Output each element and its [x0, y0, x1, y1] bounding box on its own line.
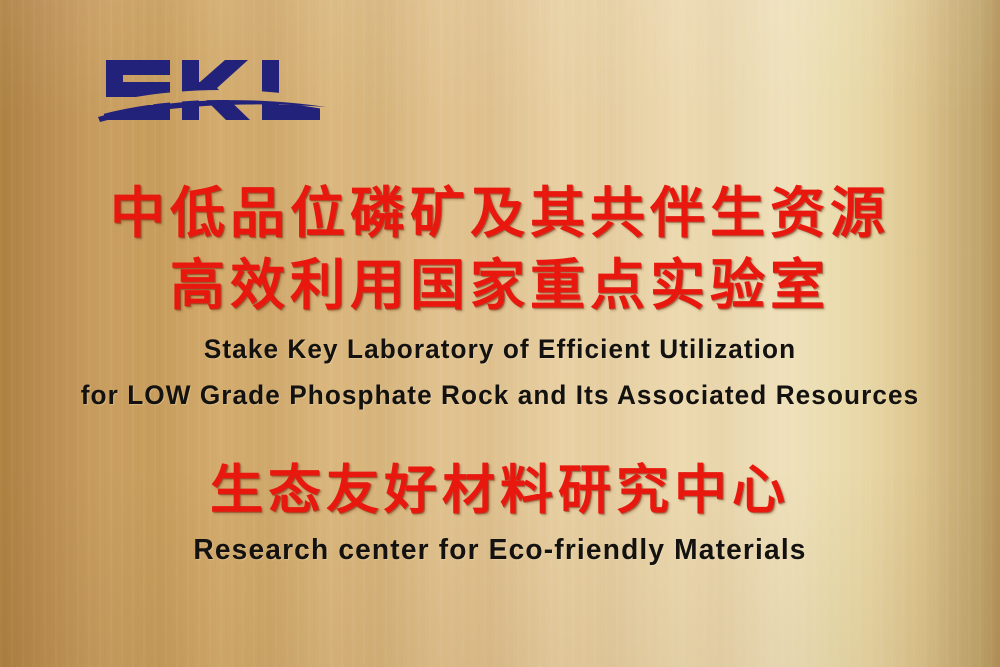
laboratory-name-en-line1: Stake Key Laboratory of Efficient Utiliz…	[15, 334, 985, 365]
research-center-name-cn: 生态友好材料研究中心	[0, 461, 1000, 521]
skl-logo	[96, 44, 328, 132]
skl-logo-icon	[96, 44, 328, 132]
laboratory-plaque: 中低品位磷矿及其共伴生资源 高效利用国家重点实验室 Stake Key Labo…	[0, 0, 1000, 667]
research-center-name-en: Research center for Eco-friendly Materia…	[15, 534, 985, 567]
laboratory-name-cn-line2: 高效利用国家重点实验室	[0, 254, 1000, 316]
laboratory-name-cn-line1: 中低品位磷矿及其共伴生资源	[0, 182, 1000, 244]
laboratory-name-en-line2: for LOW Grade Phosphate Rock and Its Ass…	[15, 380, 985, 411]
